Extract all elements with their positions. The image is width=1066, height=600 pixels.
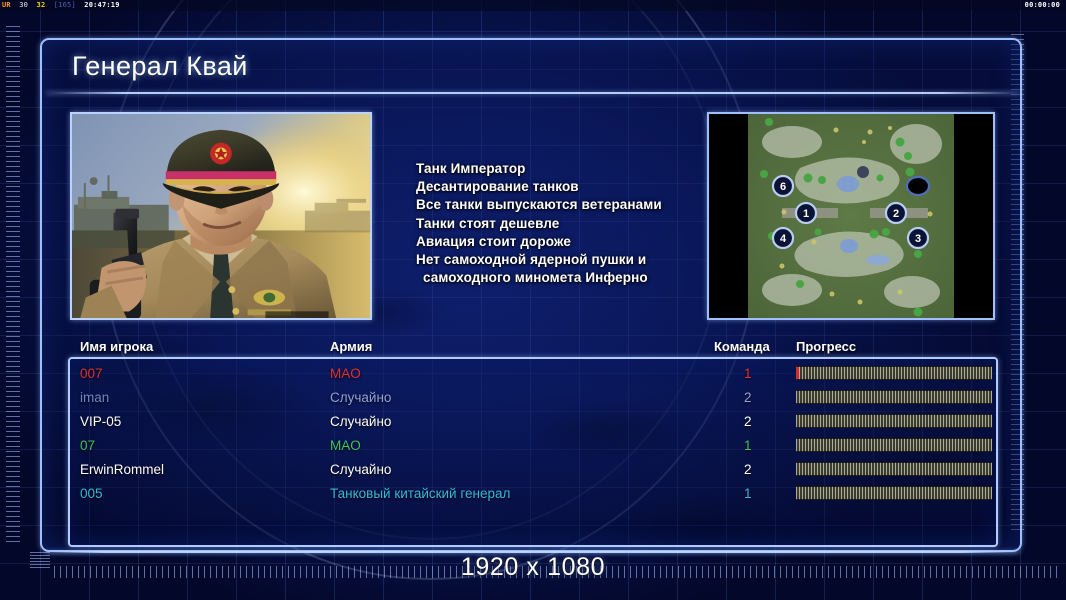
info-row: Танк Император Десантирование танков Все… — [70, 112, 995, 322]
ability-line: Танки стоят дешевле — [416, 215, 662, 233]
table-row[interactable]: 007MAO1 — [80, 364, 1000, 388]
ability-line: Десантирование танков — [416, 178, 662, 196]
player-team: 1 — [744, 484, 752, 503]
page-title: Генерал Квай — [72, 51, 248, 82]
player-army: Случайно — [330, 460, 391, 479]
player-army: Случайно — [330, 388, 391, 407]
status-value-1: 30 — [17, 1, 30, 9]
player-progress-bar — [796, 390, 992, 404]
status-clock: 00:00:00 — [1025, 0, 1060, 11]
svg-text:4: 4 — [780, 233, 787, 245]
header-army: Армия — [330, 339, 372, 354]
status-bracket: [165] — [52, 1, 78, 9]
header-progress: Прогресс — [796, 339, 856, 354]
player-name: VIP-05 — [80, 412, 121, 431]
general-description-panel: Танк Император Десантирование танков Все… — [376, 112, 696, 320]
svg-text:6: 6 — [780, 181, 786, 193]
player-army: Танковый китайский генерал — [330, 484, 510, 503]
player-name: 007 — [80, 364, 103, 383]
player-progress-bar — [796, 462, 992, 476]
player-progress-bar — [796, 414, 992, 428]
ability-line: самоходного миномета Инферно — [416, 269, 662, 287]
table-row[interactable]: imanСлучайно2 — [80, 388, 1000, 412]
status-time: 20:47:19 — [82, 1, 121, 9]
table-row[interactable]: 005Танковый китайский генерал1 — [80, 484, 1000, 508]
resolution-label: 1920 x 1080 — [0, 553, 1066, 582]
ability-line: Нет самоходной ядерной пушки и — [416, 251, 662, 269]
player-progress-bar — [796, 486, 992, 500]
player-army: Случайно — [330, 412, 391, 431]
player-army: MAO — [330, 436, 361, 455]
ability-line: Все танки выпускаются ветеранами — [416, 196, 662, 214]
ability-line: Танк Император — [416, 160, 662, 178]
player-progress-bar — [796, 438, 992, 452]
title-bar: Генерал Квай — [56, 42, 1006, 90]
general-ability-list: Танк Император Десантирование танков Все… — [416, 160, 662, 287]
player-progress-bar — [796, 366, 992, 380]
status-prefix: UR — [0, 1, 13, 9]
svg-text:2: 2 — [893, 208, 899, 220]
player-army: MAO — [330, 364, 361, 383]
svg-text:3: 3 — [915, 233, 921, 245]
status-value-2: 32 — [35, 1, 48, 9]
player-team: 2 — [744, 388, 752, 407]
player-team: 1 — [744, 436, 752, 455]
header-player-name: Имя игрока — [80, 339, 153, 354]
player-team: 1 — [744, 364, 752, 383]
player-name: ErwinRommel — [80, 460, 164, 479]
player-list: 007MAO1imanСлучайно2VIP-05Случайно207MAO… — [80, 364, 1000, 508]
svg-text:1: 1 — [803, 208, 809, 220]
player-team: 2 — [744, 460, 752, 479]
player-table-header: Имя игрока Армия Команда Прогресс — [80, 339, 1000, 357]
general-kwai-portrait — [72, 114, 370, 319]
map-preview-image[interactable]: 6 1 4 2 3 — [748, 114, 954, 318]
status-bar: UR 30 32 [165] 20:47:19 00:00:00 — [0, 0, 1066, 11]
player-team: 2 — [744, 412, 752, 431]
table-row[interactable]: VIP-05Случайно2 — [80, 412, 1000, 436]
player-name: 07 — [80, 436, 95, 455]
header-team: Команда — [714, 339, 770, 354]
player-name: iman — [80, 388, 109, 407]
general-portrait-panel — [70, 112, 372, 320]
title-divider — [46, 92, 1020, 94]
ability-line: Авиация стоит дороже — [416, 233, 662, 251]
player-name: 005 — [80, 484, 103, 503]
table-row[interactable]: ErwinRommelСлучайно2 — [80, 460, 1000, 484]
map-preview-panel[interactable]: 6 1 4 2 3 — [707, 112, 995, 320]
table-row[interactable]: 07MAO1 — [80, 436, 1000, 460]
